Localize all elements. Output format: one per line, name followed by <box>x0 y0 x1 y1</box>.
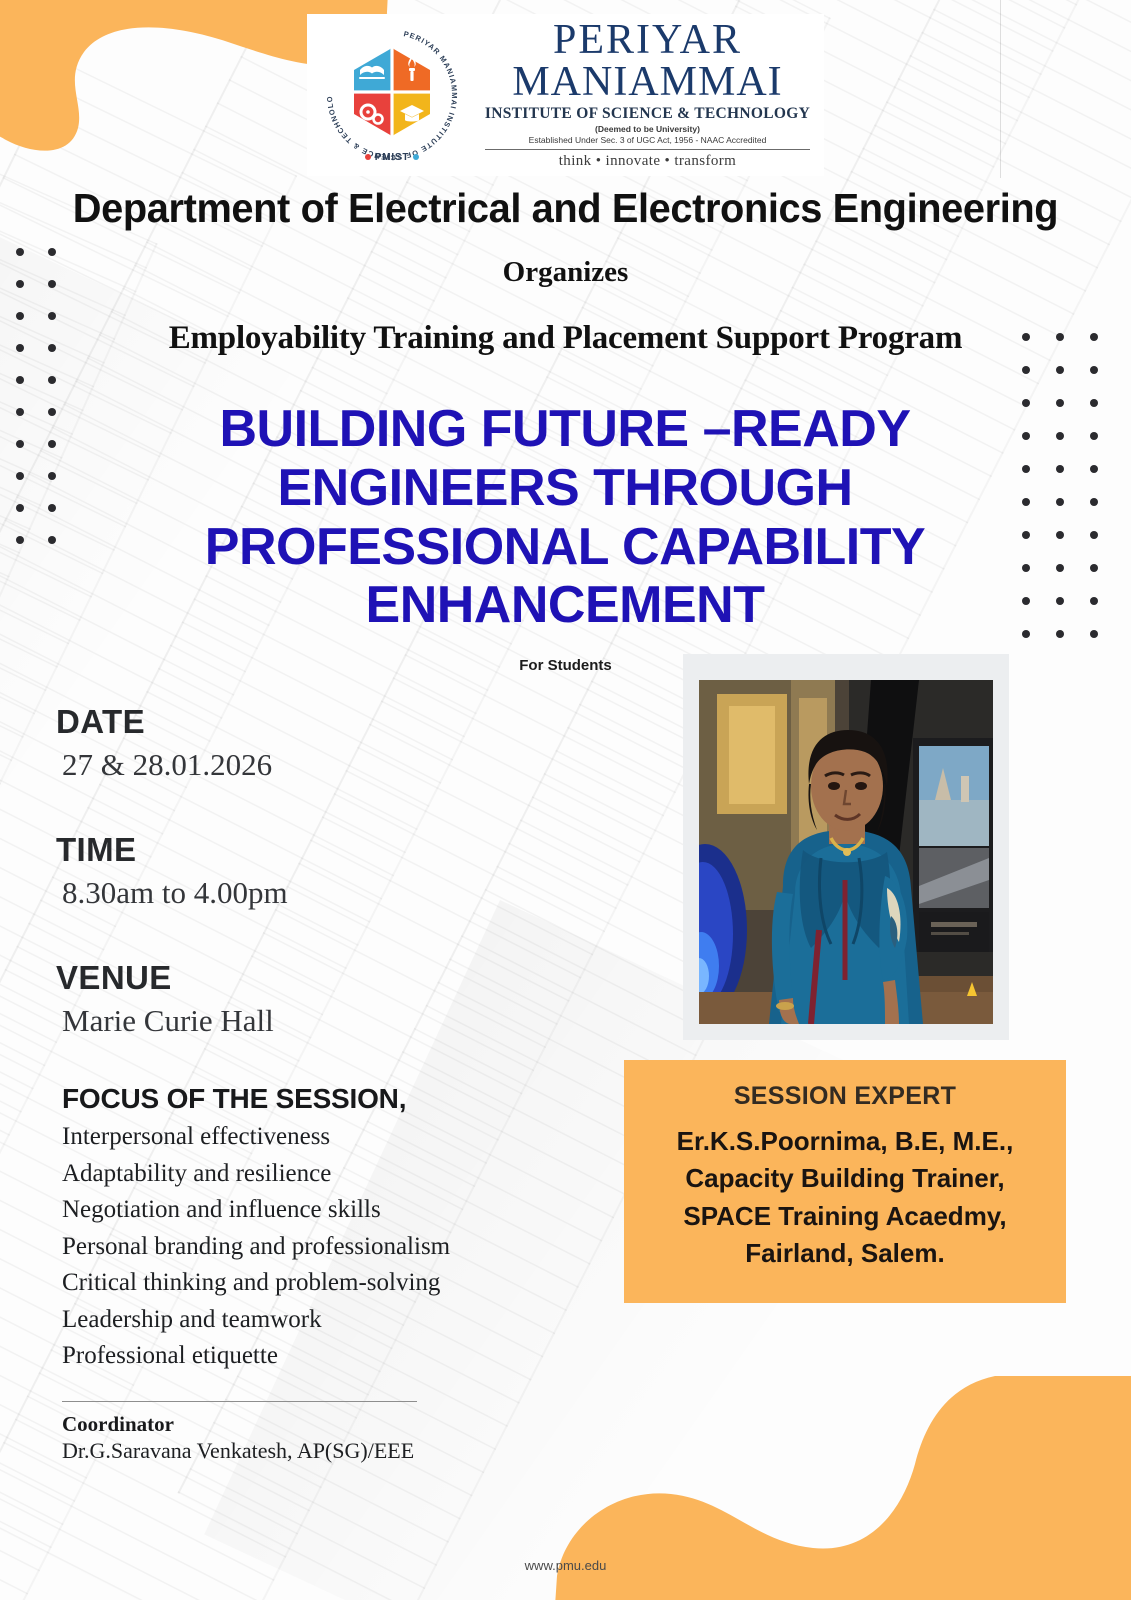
title-line-2: ENGINEERS THROUGH <box>105 459 1025 518</box>
organizes-label: Organizes <box>0 256 1131 289</box>
focus-heading: FOCUS OF THE SESSION, <box>62 1083 596 1115</box>
department-title: Department of Electrical and Electronics… <box>17 185 1114 232</box>
coordinator-name: Dr.G.Saravana Venkatesh, AP(SG)/EEE <box>62 1438 596 1464</box>
list-item: Critical thinking and problem-solving <box>62 1265 596 1302</box>
header-divider-line <box>1000 0 1001 178</box>
expert-name: Er.K.S.Poornima, B.E, M.E., <box>677 1123 1014 1160</box>
coordinator-divider <box>62 1401 417 1402</box>
list-item: Adaptability and resilience <box>62 1156 596 1193</box>
title-line-1: BUILDING FUTURE –READY <box>105 400 1025 459</box>
list-item: Interpersonal effectiveness <box>62 1119 596 1156</box>
list-item: Personal branding and professionalism <box>62 1229 596 1266</box>
logo-rule <box>485 149 810 150</box>
list-item: Professional etiquette <box>62 1338 596 1375</box>
dot-grid-right <box>1022 333 1124 663</box>
session-expert-card: SESSION EXPERT Er.K.S.Poornima, B.E, M.E… <box>624 1060 1066 1303</box>
footer-url: www.pmu.edu <box>0 1558 1131 1573</box>
logo-institute-line: INSTITUTE OF SCIENCE & TECHNOLOGY <box>485 105 810 123</box>
expert-role: Capacity Building Trainer, <box>677 1160 1014 1197</box>
dot-grid-left <box>16 248 80 568</box>
venue-value: Marie Curie Hall <box>62 1003 596 1039</box>
coordinator-label: Coordinator <box>62 1412 596 1437</box>
logo-deemed-line: (Deemed to be University) <box>595 124 700 134</box>
program-name: Employability Training and Placement Sup… <box>0 320 1131 357</box>
speaker-photo <box>699 680 993 1024</box>
session-expert-heading: SESSION EXPERT <box>734 1082 956 1111</box>
expert-institution: SPACE Training Acaedmy, <box>677 1198 1014 1235</box>
focus-list: Interpersonal effectiveness Adaptability… <box>56 1119 596 1375</box>
date-value: 27 & 28.01.2026 <box>62 747 596 783</box>
page-title: BUILDING FUTURE –READY ENGINEERS THROUGH… <box>105 400 1025 635</box>
time-value: 8.30am to 4.00pm <box>62 875 596 911</box>
institution-logo: PERIYAR MANIAMMAI INSTITUTE OF SCIENCE &… <box>0 14 1131 176</box>
event-details: DATE 27 & 28.01.2026 TIME 8.30am to 4.00… <box>56 703 596 1464</box>
session-expert-details: Er.K.S.Poornima, B.E, M.E., Capacity Bui… <box>677 1123 1014 1273</box>
logo-name-line-2: MANIAMMAI <box>512 61 782 103</box>
logo-tagline: think • innovate • transform <box>559 153 737 170</box>
title-line-3: PROFESSIONAL CAPABILITY <box>105 518 1025 577</box>
logo-established-line: Established Under Sec. 3 of UGC Act, 195… <box>529 135 767 145</box>
venue-label: VENUE <box>56 959 596 997</box>
svg-text:PMIST: PMIST <box>375 152 410 163</box>
title-line-4: ENHANCEMENT <box>105 576 1025 635</box>
date-label: DATE <box>56 703 596 741</box>
expert-location: Fairland, Salem. <box>677 1235 1014 1272</box>
university-crest-icon: PERIYAR MANIAMMAI INSTITUTE OF SCIENCE &… <box>321 24 463 166</box>
list-item: Negotiation and influence skills <box>62 1192 596 1229</box>
event-poster: PERIYAR MANIAMMAI INSTITUTE OF SCIENCE &… <box>0 0 1131 1600</box>
time-label: TIME <box>56 831 596 869</box>
logo-name-line-1: PERIYAR <box>553 20 742 61</box>
speaker-photo-frame <box>683 654 1009 1040</box>
list-item: Leadership and teamwork <box>62 1302 596 1339</box>
